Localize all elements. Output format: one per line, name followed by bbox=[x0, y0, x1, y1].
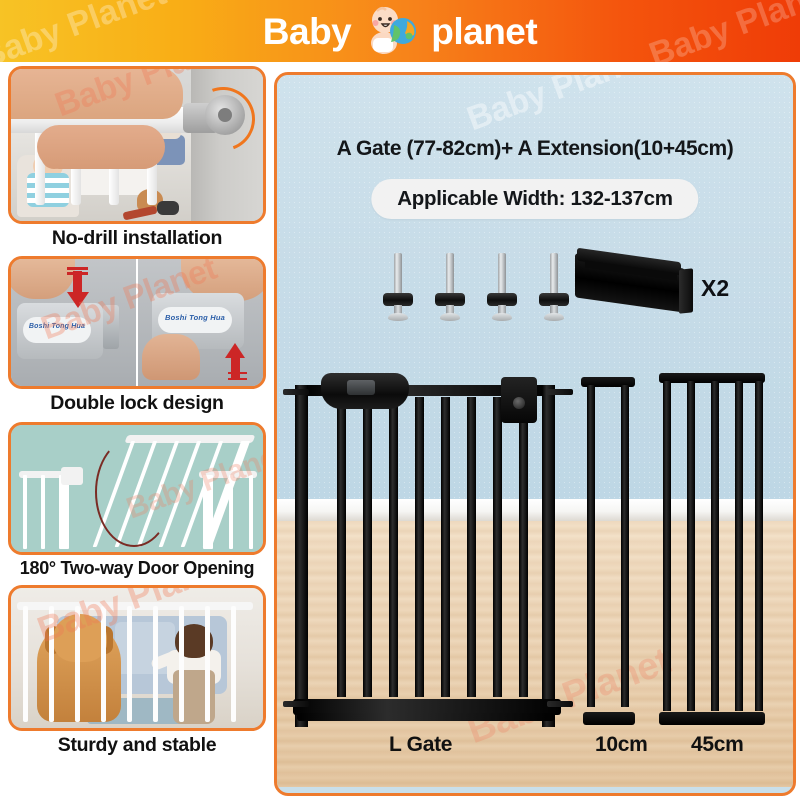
product-label-gate: L Gate bbox=[389, 733, 452, 757]
extension-10cm-product bbox=[581, 377, 641, 725]
brand-name-secondary: planet bbox=[431, 13, 537, 50]
lock-brand-label: Boshi Tong Hua bbox=[162, 313, 228, 322]
gate-lock-handle bbox=[321, 373, 409, 409]
applicable-width-badge: Applicable Width: 132-137cm bbox=[371, 179, 698, 219]
header-watermark-left: Baby Planet bbox=[0, 0, 171, 62]
u-channel-wall-bracket bbox=[575, 255, 693, 317]
brand-header: Baby Planet Baby Planet Baby planet bbox=[0, 0, 800, 62]
main-gate-product bbox=[293, 375, 561, 727]
extension-45cm-product bbox=[659, 373, 771, 725]
feature-card-sturdy: Baby Planet Sturdy and stable bbox=[8, 585, 266, 760]
header-watermark-right: Baby Planet bbox=[645, 0, 800, 62]
feature-caption: Sturdy and stable bbox=[8, 731, 266, 760]
threaded-wall-mount-bolt bbox=[435, 253, 465, 325]
threaded-wall-mount-bolt bbox=[539, 253, 569, 325]
double-lock-photo: Boshi Tong Hua Boshi Tong bbox=[8, 256, 266, 389]
dog-and-toddler-photo: Baby Planet bbox=[8, 585, 266, 731]
feature-caption: No-drill installation bbox=[8, 224, 266, 253]
feature-caption: Double lock design bbox=[8, 389, 266, 418]
lock-brand-label: Boshi Tong Hua bbox=[27, 323, 87, 330]
product-label-45cm: 45cm bbox=[691, 733, 744, 757]
threaded-wall-mount-bolt bbox=[383, 253, 413, 325]
bracket-quantity-label: X2 bbox=[701, 275, 729, 302]
product-label-10cm: 10cm bbox=[595, 733, 648, 757]
brand-name-primary: Baby bbox=[263, 13, 351, 50]
no-drill-install-photo: Baby Planet bbox=[8, 66, 266, 224]
feature-sidebar: Baby Planet No-drill installation Boshi … bbox=[8, 66, 266, 796]
threaded-wall-mount-bolt bbox=[487, 253, 517, 325]
hardware-accessories-row: X2 bbox=[277, 253, 793, 335]
feature-card-no-drill: Baby Planet No-drill installation bbox=[8, 66, 266, 253]
feature-card-two-way: Baby Planet 180° Two-way Door Opening bbox=[8, 422, 266, 582]
gate-hinge bbox=[501, 377, 537, 423]
main-product-panel: Baby Planet Baby Planet A Gate (77-82cm)… bbox=[274, 72, 796, 796]
content-area: Baby Planet No-drill installation Boshi … bbox=[0, 62, 800, 800]
two-way-opening-photo: Baby Planet bbox=[8, 422, 266, 555]
product-title: A Gate (77-82cm)+ A Extension(10+45cm) bbox=[277, 137, 793, 161]
baby-globe-mascot-icon bbox=[363, 5, 419, 57]
feature-card-double-lock: Boshi Tong Hua Boshi Tong bbox=[8, 256, 266, 418]
product-infographic: Baby Planet Baby Planet Baby planet bbox=[0, 0, 800, 800]
feature-caption: 180° Two-way Door Opening bbox=[8, 555, 266, 582]
